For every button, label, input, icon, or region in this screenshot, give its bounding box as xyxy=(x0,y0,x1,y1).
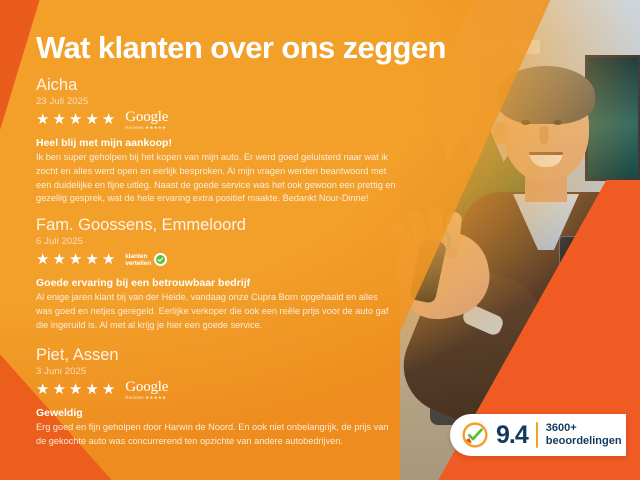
quality-seal-icon xyxy=(462,422,488,448)
review-body: Al enige jaren klant bij van der Heide, … xyxy=(36,291,396,332)
review-title: Geweldig xyxy=(36,407,396,419)
google-reviews-sublabel: Reviews ★★★★★ xyxy=(125,396,168,401)
star-icon: ★ xyxy=(85,252,98,267)
review-card: Aicha 23 Juli 2025 ★ ★ ★ ★ ★ Google Revi… xyxy=(36,76,396,206)
checkmark-badge-icon xyxy=(154,253,167,266)
rating-divider xyxy=(536,422,538,448)
star-icon: ★ xyxy=(102,382,115,397)
google-reviews-logo-icon: Google Reviews ★★★★★ xyxy=(125,110,168,131)
star-icon: ★ xyxy=(102,252,115,267)
review-meta: ★ ★ ★ ★ ★ Google Reviews ★★★★★ xyxy=(36,381,396,399)
reviewer-name: Fam. Goossens, Emmeloord xyxy=(36,216,396,235)
klantenvertellen-logo-icon: klanten vertellen xyxy=(125,253,167,268)
review-title: Goede ervaring bij een betrouwbaar bedri… xyxy=(36,277,396,289)
star-icon: ★ xyxy=(52,252,65,267)
star-rating: ★ ★ ★ ★ ★ xyxy=(36,252,115,267)
content-layer: Wat klanten over ons zeggen Aicha 23 Jul… xyxy=(0,0,640,480)
reviewer-name: Aicha xyxy=(36,76,396,95)
star-icon: ★ xyxy=(69,252,82,267)
klantenvertellen-label: klanten vertellen xyxy=(125,253,151,268)
review-date: 3 Juni 2025 xyxy=(36,366,396,377)
review-banner: VDH Wat klanten over o xyxy=(0,0,640,480)
review-card: Fam. Goossens, Emmeloord 6 Juli 2025 ★ ★… xyxy=(36,216,396,332)
reviewer-name: Piet, Assen xyxy=(36,346,396,365)
review-meta: ★ ★ ★ ★ ★ klanten vertellen xyxy=(36,251,396,269)
klantenvertellen-line1: klanten xyxy=(125,253,151,260)
klantenvertellen-line2: vertellen xyxy=(125,260,151,267)
star-icon: ★ xyxy=(52,382,65,397)
rating-count: 3600+ xyxy=(546,422,622,435)
page-title: Wat klanten over ons zeggen xyxy=(36,30,446,66)
star-icon: ★ xyxy=(69,382,82,397)
google-logo-text: Google xyxy=(125,380,168,395)
review-date: 23 Juli 2025 xyxy=(36,96,396,107)
star-icon: ★ xyxy=(36,112,49,127)
star-icon: ★ xyxy=(85,112,98,127)
review-body: Erg goed en fijn geholpen door Harwin de… xyxy=(36,421,396,449)
star-icon: ★ xyxy=(52,112,65,127)
google-reviews-logo-icon: Google Reviews ★★★★★ xyxy=(125,380,168,401)
star-icon: ★ xyxy=(102,112,115,127)
google-reviews-sublabel: Reviews ★★★★★ xyxy=(125,126,168,131)
star-rating: ★ ★ ★ ★ ★ xyxy=(36,112,115,127)
rating-score: 9.4 xyxy=(496,423,528,448)
review-title: Heel blij met mijn aankoop! xyxy=(36,137,396,149)
review-body: Ik ben super geholpen bij het kopen van … xyxy=(36,151,396,206)
rating-badge: 9.4 3600+ beoordelingen xyxy=(450,414,626,456)
review-date: 6 Juli 2025 xyxy=(36,236,396,247)
rating-count-label: 3600+ beoordelingen xyxy=(546,422,622,448)
review-meta: ★ ★ ★ ★ ★ Google Reviews ★★★★★ xyxy=(36,111,396,129)
star-rating: ★ ★ ★ ★ ★ xyxy=(36,382,115,397)
star-icon: ★ xyxy=(36,252,49,267)
star-icon: ★ xyxy=(36,382,49,397)
google-logo-text: Google xyxy=(125,110,168,125)
star-icon: ★ xyxy=(85,382,98,397)
rating-unit: beoordelingen xyxy=(546,435,622,448)
star-icon: ★ xyxy=(69,112,82,127)
review-card: Piet, Assen 3 Juni 2025 ★ ★ ★ ★ ★ Google… xyxy=(36,346,396,449)
